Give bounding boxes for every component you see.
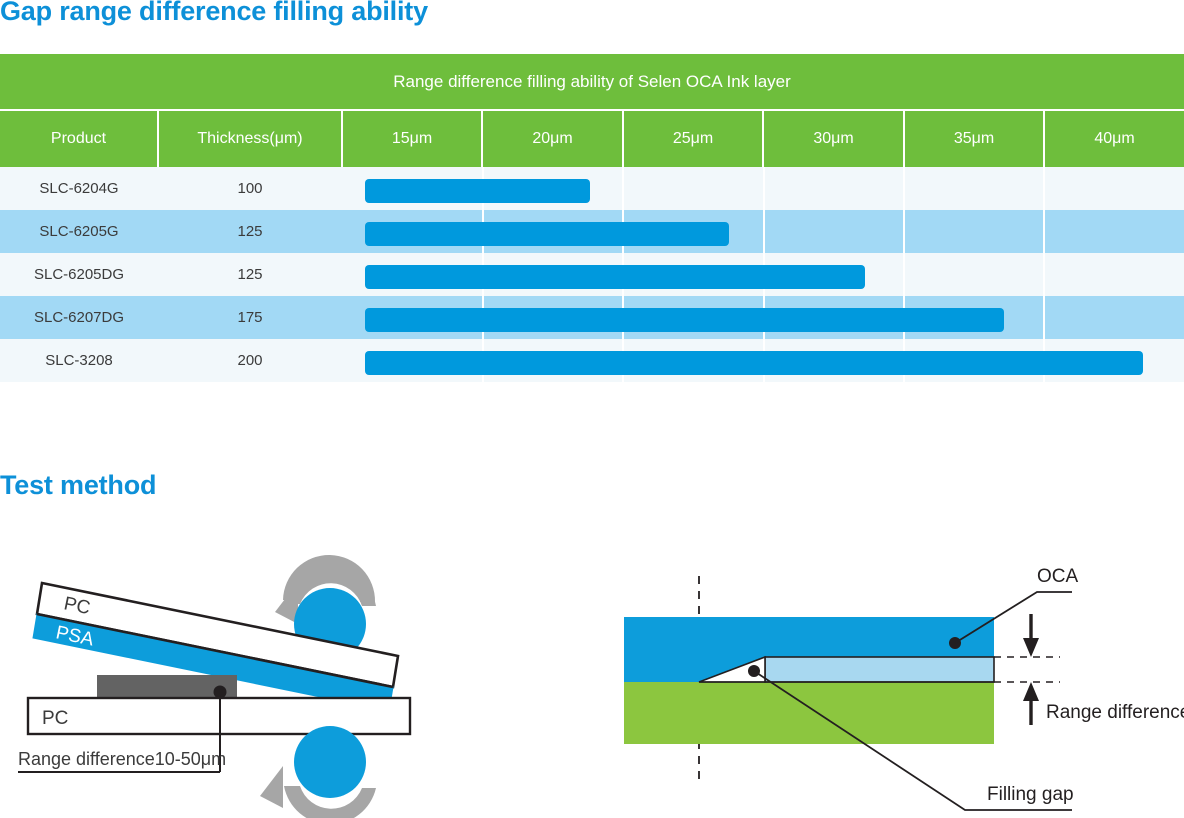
table-body: SLC-6204G100SLC-6205G125SLC-6205DG125SLC… [0, 167, 1184, 382]
cell-bar-track [342, 167, 1184, 210]
page-title-test-method: Test method [0, 470, 156, 501]
cell-product: SLC-3208 [0, 339, 158, 382]
column-separator [622, 296, 624, 339]
column-separator [903, 253, 905, 296]
label-bottom-pc: PC [42, 708, 68, 729]
cell-product: SLC-6207DG [0, 296, 158, 339]
table-row: SLC-6207DG175 [0, 296, 1184, 339]
column-separator [903, 339, 905, 382]
cell-bar-track [342, 210, 1184, 253]
column-separator [482, 253, 484, 296]
cell-thickness: 125 [158, 253, 342, 296]
dimension-arrow-down-icon [1023, 614, 1039, 657]
header-30um: 30μm [763, 110, 904, 167]
label-oca: OCA [1037, 566, 1079, 587]
cell-product: SLC-6205G [0, 210, 158, 253]
dimension-arrow-up-icon [1023, 682, 1039, 725]
column-separator [1043, 339, 1045, 382]
column-separator [622, 210, 624, 253]
header-15um: 15μm [342, 110, 482, 167]
cell-product: SLC-6204G [0, 167, 158, 210]
cell-thickness: 100 [158, 167, 342, 210]
header-25um: 25μm [623, 110, 763, 167]
column-separator [482, 167, 484, 210]
table-row: SLC-3208200 [0, 339, 1184, 382]
cell-bar-track [342, 296, 1184, 339]
column-separator [482, 210, 484, 253]
header-35um: 35μm [904, 110, 1044, 167]
tilt-test-diagram: PC PSA PC Range difference10-50μm [0, 520, 470, 818]
column-separator [763, 339, 765, 382]
column-separator [622, 253, 624, 296]
table-banner-title: Range difference filling ability of Sele… [0, 54, 1184, 110]
cell-thickness: 175 [158, 296, 342, 339]
label-filling-gap: Filling gap [987, 784, 1074, 805]
column-separator [1043, 210, 1045, 253]
header-product: Product [0, 110, 158, 167]
filling-gap-strip [765, 657, 994, 682]
column-separator [622, 167, 624, 210]
table-row: SLC-6205DG125 [0, 253, 1184, 296]
header-40um: 40μm [1044, 110, 1184, 167]
column-separator [763, 296, 765, 339]
label-range-difference-note: Range difference10-50μm [18, 749, 226, 769]
table-header-row: Product Thickness(μm) 15μm 20μm 25μm 30μ… [0, 110, 1184, 167]
cell-product: SLC-6205DG [0, 253, 158, 296]
table-row: SLC-6204G100 [0, 167, 1184, 210]
column-separator [763, 210, 765, 253]
column-separator [1043, 167, 1045, 210]
cell-thickness: 200 [158, 339, 342, 382]
header-thickness: Thickness(μm) [158, 110, 342, 167]
column-separator [763, 253, 765, 296]
column-separator [622, 339, 624, 382]
ink-layer-green [624, 682, 994, 744]
column-separator [903, 167, 905, 210]
column-separator [482, 296, 484, 339]
cross-section-diagram: OCA Filling gap Range difference [600, 540, 1184, 818]
table-banner-row: Range difference filling ability of Sele… [0, 54, 1184, 110]
column-separator [482, 339, 484, 382]
label-range-difference: Range difference [1046, 702, 1184, 723]
ability-table: Range difference filling ability of Sele… [0, 54, 1184, 382]
cell-bar-track [342, 339, 1184, 382]
column-separator [1043, 253, 1045, 296]
column-separator [903, 296, 905, 339]
rotation-arrow-bottom-icon [260, 726, 376, 818]
cell-thickness: 125 [158, 210, 342, 253]
header-20um: 20μm [482, 110, 623, 167]
roller-bottom-icon [294, 726, 366, 798]
table-row: SLC-6205G125 [0, 210, 1184, 253]
column-separator [763, 167, 765, 210]
ability-table-wrapper: Range difference filling ability of Sele… [0, 54, 1184, 382]
column-separator [1043, 296, 1045, 339]
page-title-gap-range: Gap range difference filling ability [0, 0, 428, 27]
cell-bar-track [342, 253, 1184, 296]
column-separator [903, 210, 905, 253]
